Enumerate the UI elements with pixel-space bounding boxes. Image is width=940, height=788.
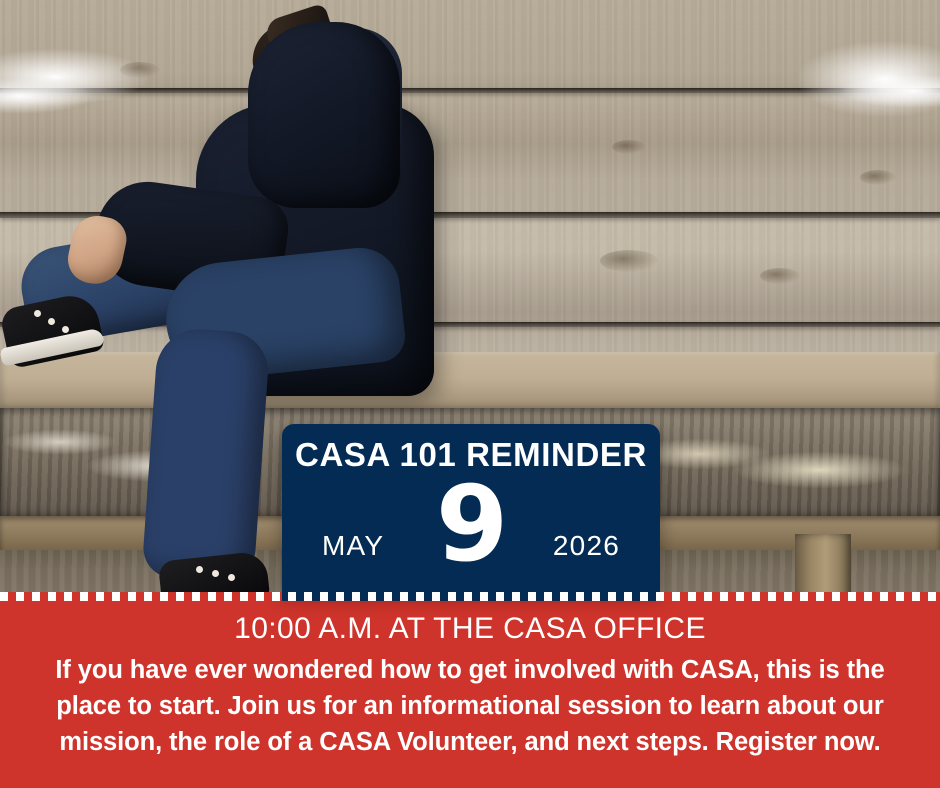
date-card: CASA 101 REMINDER MAY 2026 9 bbox=[282, 424, 660, 592]
shoe-lace-eyelet bbox=[212, 570, 219, 577]
banner-headline: 10:00 A.M. AT THE CASA OFFICE bbox=[0, 612, 940, 646]
bench-leg-post bbox=[795, 534, 851, 600]
shoe-lace-eyelet bbox=[228, 574, 235, 581]
banner-body-text: If you have ever wondered how to get inv… bbox=[28, 652, 912, 761]
info-banner: 10:00 A.M. AT THE CASA OFFICE If you hav… bbox=[0, 600, 940, 788]
date-card-day: 9 bbox=[282, 472, 660, 576]
hood bbox=[248, 22, 400, 208]
jeans-shin bbox=[141, 326, 270, 583]
shoe-lace-eyelet bbox=[48, 318, 55, 325]
shoe-lace-eyelet bbox=[62, 326, 69, 333]
event-flyer-poster: CASA 101 REMINDER MAY 2026 9 10:00 A.M. … bbox=[0, 0, 940, 788]
shoe-lace-eyelet bbox=[34, 310, 41, 317]
shoe-lace-eyelet bbox=[196, 566, 203, 573]
dotted-divider-strip bbox=[0, 592, 940, 601]
